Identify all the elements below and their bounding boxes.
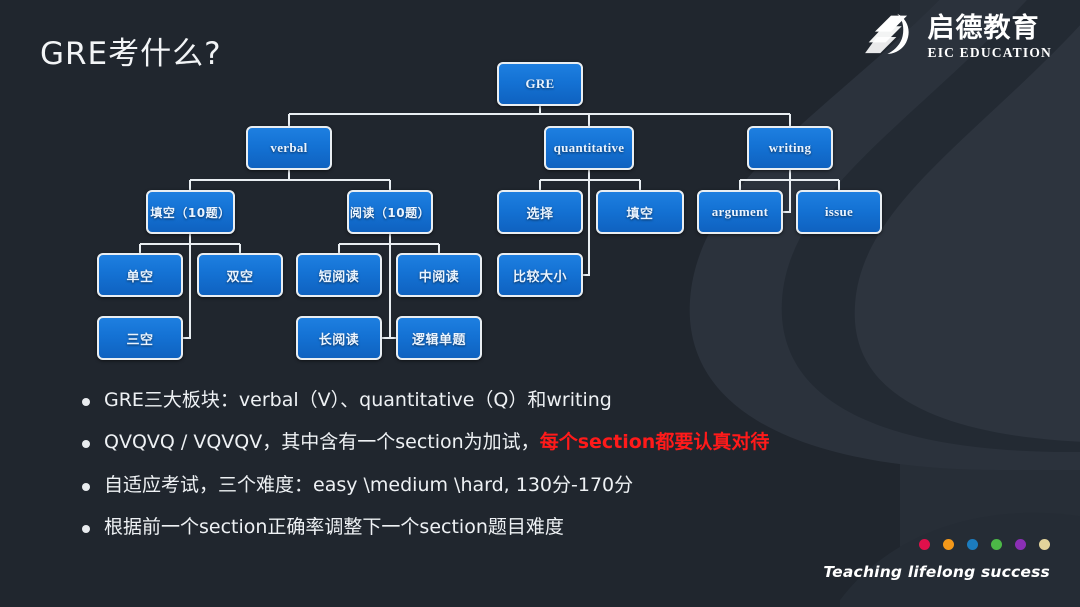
diagram-node-label: 逻辑单题 — [412, 329, 466, 348]
diagram-node-quant: quantitative — [544, 126, 634, 170]
diagram-node-label: 填空 — [626, 203, 653, 222]
diagram-node-label: verbal — [270, 140, 307, 156]
bullet-text-plain: 自适应考试，三个难度：easy \medium \hard, 130分-170分 — [104, 474, 633, 496]
bullet-text-plain: GRE三大板块：verbal（V）、quantitative（Q）和writin… — [104, 389, 612, 411]
diagram-node-label: argument — [712, 204, 769, 220]
bullet-item: 自适应考试，三个难度：easy \medium \hard, 130分-170分 — [82, 473, 982, 497]
diagram-node-label: 中阅读 — [419, 266, 460, 285]
diagram-node-duanyuedu: 短阅读 — [296, 253, 382, 297]
diagram-node-label: 单空 — [126, 266, 153, 285]
bullet-text: GRE三大板块：verbal（V）、quantitative（Q）和writin… — [104, 388, 612, 412]
footer-dot-4 — [991, 539, 1002, 550]
diagram-node-label: quantitative — [554, 140, 625, 156]
bullet-item: GRE三大板块：verbal（V）、quantitative（Q）和writin… — [82, 388, 982, 412]
diagram-node-label: GRE — [525, 76, 554, 92]
bullet-item: 根据前一个section正确率调整下一个section题目难度 — [82, 515, 982, 539]
diagram-node-label: 长阅读 — [319, 329, 360, 348]
diagram-node-changyuedu: 长阅读 — [296, 316, 382, 360]
slide-root: GRE考什么? 启德教育 EIC EDUCATION — [0, 0, 1080, 607]
diagram-node-label: 双空 — [226, 266, 253, 285]
diagram-node-label: writing — [769, 140, 812, 156]
bullet-text-plain: 根据前一个section正确率调整下一个section题目难度 — [104, 516, 564, 538]
diagram-node-label: 比较大小 — [513, 266, 567, 285]
footer-dot-5 — [1015, 539, 1026, 550]
diagram-node-tiankong: 填空 — [596, 190, 684, 234]
diagram-node-label: 阅读（10题） — [350, 204, 430, 221]
diagram-node-bijiaodx: 比较大小 — [497, 253, 583, 297]
diagram-node-yuedu10: 阅读（10题） — [347, 190, 433, 234]
bullet-marker-icon — [82, 525, 90, 533]
bullet-text: 根据前一个section正确率调整下一个section题目难度 — [104, 515, 564, 539]
bullet-marker-icon — [82, 483, 90, 491]
diagram-node-tiankong10: 填空（10题） — [146, 190, 235, 234]
diagram-node-label: 选择 — [526, 203, 553, 222]
diagram-node-label: 三空 — [126, 329, 153, 348]
diagram-node-argument: argument — [697, 190, 783, 234]
footer-dot-3 — [967, 539, 978, 550]
diagram-node-zhongyuedu: 中阅读 — [396, 253, 482, 297]
bullet-marker-icon — [82, 440, 90, 448]
bullet-text-plain: QVQVQ / VQVQV，其中含有一个section为加试， — [104, 431, 540, 453]
bullet-item: QVQVQ / VQVQV，其中含有一个section为加试，每个section… — [82, 430, 982, 454]
diagram-node-dankong: 单空 — [97, 253, 183, 297]
footer-tagline: Teaching lifelong success — [823, 563, 1050, 581]
diagram-node-label: issue — [825, 204, 853, 220]
gre-structure-diagram: GREverbalquantitativewriting填空（10题）阅读（10… — [0, 0, 1080, 380]
diagram-node-issue: issue — [796, 190, 882, 234]
bullet-text-highlight: 每个section都要认真对待 — [540, 431, 770, 453]
diagram-node-shuangkong: 双空 — [197, 253, 283, 297]
diagram-node-gre: GRE — [497, 62, 583, 106]
footer-dot-1 — [919, 539, 930, 550]
diagram-node-label: 填空（10题） — [150, 204, 230, 221]
bullet-list: GRE三大板块：verbal（V）、quantitative（Q）和writin… — [82, 388, 982, 557]
diagram-node-label: 短阅读 — [319, 266, 360, 285]
bullet-marker-icon — [82, 398, 90, 406]
footer-dot-2 — [943, 539, 954, 550]
diagram-node-sankong: 三空 — [97, 316, 183, 360]
diagram-node-verbal: verbal — [246, 126, 332, 170]
diagram-node-writing: writing — [747, 126, 833, 170]
footer-color-dots — [919, 539, 1050, 550]
diagram-node-luojidanti: 逻辑单题 — [396, 316, 482, 360]
footer-dot-6 — [1039, 539, 1050, 550]
bullet-text: 自适应考试，三个难度：easy \medium \hard, 130分-170分 — [104, 473, 633, 497]
diagram-node-xuanze: 选择 — [497, 190, 583, 234]
bullet-text: QVQVQ / VQVQV，其中含有一个section为加试，每个section… — [104, 430, 769, 454]
